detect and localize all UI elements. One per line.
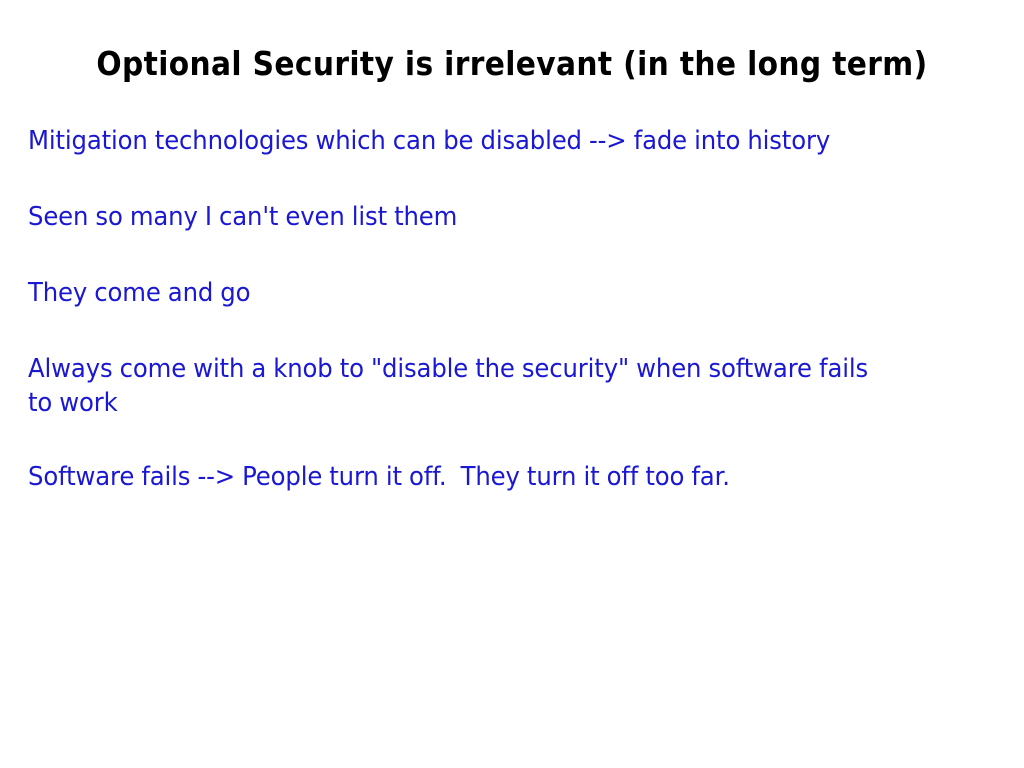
body-line-4: Always come with a knob to "disable the …: [28, 352, 892, 420]
page-title: Optional Security is irrelevant (in the …: [51, 44, 973, 84]
body-line-3: They come and go: [28, 276, 916, 310]
slide-body: Mitigation technologies which can be dis…: [28, 124, 958, 494]
slide-canvas: Optional Security is irrelevant (in the …: [0, 0, 1024, 768]
body-line-2: Seen so many I can't even list them: [28, 200, 916, 234]
body-line-5: Software fails --> People turn it off. T…: [28, 460, 916, 494]
body-line-1: Mitigation technologies which can be dis…: [28, 124, 916, 158]
